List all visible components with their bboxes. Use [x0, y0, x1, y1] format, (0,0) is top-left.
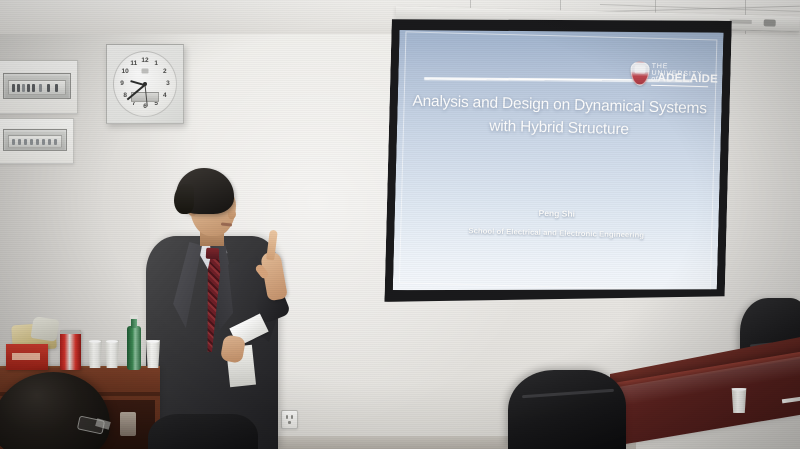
sideboard-jar — [120, 412, 136, 436]
clock-numeral: 1 — [154, 61, 158, 68]
clock-numeral: 9 — [120, 81, 124, 88]
presenter-standing — [144, 168, 304, 449]
clock-brand-mark — [142, 69, 149, 74]
paper-cup — [731, 388, 747, 413]
green-bottle-neck — [131, 318, 137, 328]
presentation-slide: THE UNIVERSITY ofADELAIDE Analysis and D… — [393, 24, 724, 298]
electrical-panel-lower — [0, 118, 74, 164]
room-photo-scene: 12 1 2 3 4 5 6 7 8 9 10 11 — [0, 0, 800, 449]
presenter-nose — [228, 209, 236, 219]
electrical-panel-upper — [0, 60, 78, 114]
clock-numeral: 4 — [163, 92, 167, 99]
presenter-tie-knot — [206, 248, 220, 260]
paper-cup — [88, 340, 102, 368]
green-bottle-cap — [130, 315, 138, 319]
conference-chair-front — [508, 370, 626, 449]
projection-screen: THE UNIVERSITY ofADELAIDE Analysis and D… — [384, 12, 731, 311]
slide-title: Analysis and Design on Dynamical Systems… — [407, 90, 712, 144]
clock-numeral: 3 — [166, 81, 170, 88]
paper-cup — [146, 340, 160, 368]
wall-clock: 12 1 2 3 4 5 6 7 8 9 10 11 — [106, 44, 184, 124]
beverage-can — [60, 330, 81, 370]
clock-numeral: 11 — [130, 61, 137, 68]
paper-cup — [105, 340, 119, 368]
university-crest-icon — [630, 61, 650, 85]
logo-line-adelaide: ofADELAIDE — [651, 72, 718, 86]
clock-numeral: 2 — [163, 69, 167, 76]
roller-label — [730, 19, 752, 24]
red-box — [6, 344, 48, 370]
logo-adelaide-word: ADELAIDE — [657, 72, 718, 86]
chair-bottom-left — [148, 414, 258, 449]
presenter-hair-side — [174, 184, 194, 214]
clock-numeral: 12 — [141, 58, 148, 65]
clock-center-pin — [143, 82, 147, 86]
roller-end-cap — [764, 19, 776, 26]
snack-bag-2 — [30, 316, 59, 342]
university-logo: THE UNIVERSITY ofADELAIDE — [630, 60, 709, 88]
clock-face: 12 1 2 3 4 5 6 7 8 9 10 11 — [113, 51, 177, 117]
clock-numeral: 10 — [122, 69, 129, 76]
green-bottle — [127, 326, 141, 370]
